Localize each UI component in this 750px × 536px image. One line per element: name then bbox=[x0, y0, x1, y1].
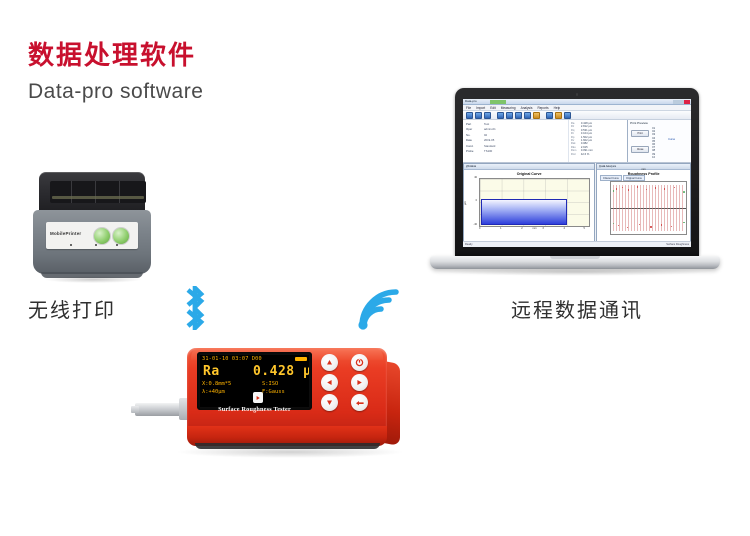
x-axis-ticks: 0 1 2 3 4 5 mm bbox=[479, 227, 590, 235]
paste-icon[interactable] bbox=[524, 112, 531, 119]
x-axis-label: mm bbox=[642, 168, 646, 242]
printer-led-error bbox=[116, 244, 118, 246]
printer-led-power bbox=[95, 244, 97, 246]
x-tick: 1 bbox=[500, 227, 501, 230]
lcd-datetime: 31-01-10 03:07 D00 bbox=[202, 356, 262, 362]
laptop-trackpad-notch bbox=[550, 256, 600, 259]
lcd-measure-value: 0.428 bbox=[253, 364, 295, 379]
info-key: Oper bbox=[466, 127, 480, 131]
tester-front-face: 31-01-10 03:07 D00 Ra 0.428 µm X:0.8mm*5… bbox=[197, 352, 377, 410]
print-icon[interactable] bbox=[497, 112, 504, 119]
remote-data-label: 远程数据通讯 bbox=[511, 294, 643, 323]
printer-power-button[interactable] bbox=[112, 227, 130, 245]
y-axis-ticks: 40 0 -40 bbox=[466, 176, 478, 227]
x-tick: 0 bbox=[479, 227, 480, 230]
menu-item-measuring[interactable]: Measuring bbox=[501, 105, 516, 111]
window-controls[interactable] bbox=[673, 100, 690, 104]
tester-shadow bbox=[175, 446, 405, 458]
y-tick: 0 bbox=[476, 199, 477, 202]
info-value: Standard bbox=[484, 144, 495, 148]
info-key: Part bbox=[466, 122, 480, 126]
info-row: PartTest bbox=[466, 122, 568, 126]
help-icon[interactable] bbox=[564, 112, 571, 119]
enter-key[interactable] bbox=[351, 394, 368, 411]
lcd-measurement: Ra 0.428 µm bbox=[203, 364, 309, 379]
x-tick: 4 bbox=[564, 227, 565, 230]
software-toolbar[interactable] bbox=[463, 111, 691, 120]
original-curve-window: Window _ □ × Original Curve µm 40 0 -40 bbox=[463, 163, 595, 245]
lcd-range: λ:+40µm bbox=[202, 389, 225, 395]
poster-canvas: 数据处理软件 Data-pro software MobilePrinter 无… bbox=[0, 0, 750, 536]
software-title-text: Data-pro bbox=[465, 99, 477, 104]
info-row: Cond.Standard bbox=[466, 144, 568, 148]
print-row-list[interactable]: 01 02 03 04 05 06 07 08 09 10 bbox=[652, 127, 655, 159]
info-fields-panel: PartTest Operadmin-01 No.02 Date2019-05 … bbox=[463, 120, 568, 162]
menu-item-help[interactable]: Help bbox=[554, 105, 561, 111]
printer-led-status bbox=[70, 244, 72, 246]
wireless-print-label: 无线打印 bbox=[28, 294, 116, 323]
copy-icon[interactable] bbox=[515, 112, 522, 119]
print-preview-panel: Print Preview Print Close Curve 01 02 03… bbox=[627, 120, 691, 162]
undo-icon[interactable] bbox=[533, 112, 540, 119]
info-value: admin-01 bbox=[484, 127, 496, 131]
list-item: Rmr42.6 % bbox=[571, 153, 627, 156]
lcd-standard: S:ISO bbox=[262, 381, 278, 387]
bluetooth-icon bbox=[178, 286, 212, 330]
toolbar-separator-2 bbox=[542, 113, 544, 118]
cut-icon[interactable] bbox=[506, 112, 513, 119]
software-upper-area: PartTest Operadmin-01 No.02 Date2019-05 … bbox=[463, 120, 691, 163]
x-tick: 2 bbox=[521, 227, 522, 230]
menu-item-edit[interactable]: Edit bbox=[490, 105, 496, 111]
software-lower-area: Window _ □ × Original Curve µm 40 0 -40 bbox=[463, 163, 691, 245]
software-status-bar: Ready Surface Roughness bbox=[463, 241, 691, 247]
close-button[interactable]: Close bbox=[631, 146, 649, 153]
power-key[interactable] bbox=[351, 354, 368, 371]
info-value: Test bbox=[484, 122, 489, 126]
info-value: 02 bbox=[484, 133, 487, 137]
mobile-printer-image: MobilePrinter bbox=[33, 172, 151, 287]
zoom-icon[interactable] bbox=[546, 112, 553, 119]
chart-canvas bbox=[479, 178, 590, 227]
y-tick: 40 bbox=[474, 176, 477, 179]
printer-brand-text: MobilePrinter bbox=[50, 231, 81, 236]
battery-icon bbox=[295, 357, 307, 361]
roughness-tester-image: 31-01-10 03:07 D00 Ra 0.428 µm X:0.8mm*5… bbox=[135, 340, 425, 465]
laptop-screen: Data-pro File Import Edit Measuring Anal… bbox=[463, 99, 691, 247]
curve-series bbox=[481, 199, 567, 225]
window-controls[interactable]: _ □ × bbox=[466, 165, 593, 169]
tester-keypad[interactable] bbox=[321, 354, 377, 410]
printer-lid bbox=[39, 172, 145, 214]
laptop-lid: Data-pro File Import Edit Measuring Anal… bbox=[455, 88, 699, 256]
menu-item-import[interactable]: Import bbox=[476, 105, 485, 111]
info-key: No. bbox=[466, 133, 480, 137]
lcd-measure-label: Ra bbox=[203, 364, 220, 379]
page-title: 数据处理软件 Data-pro software bbox=[28, 40, 203, 107]
print-button[interactable]: Print bbox=[631, 130, 649, 137]
down-key[interactable] bbox=[321, 394, 338, 411]
printer-feed-button[interactable] bbox=[93, 227, 111, 245]
page-title-cn: 数据处理软件 bbox=[28, 40, 203, 70]
lcd-filter: F:Gauss bbox=[262, 389, 285, 395]
info-key: Date bbox=[466, 138, 480, 142]
info-value: 2019-05 bbox=[484, 138, 494, 142]
lcd-measure-unit: µm bbox=[303, 364, 309, 379]
curve-checkbox[interactable]: Curve bbox=[668, 138, 675, 141]
page-title-en: Data-pro software bbox=[28, 77, 203, 107]
left-key[interactable] bbox=[321, 374, 338, 391]
x-tick: 5 bbox=[584, 227, 585, 230]
play-key[interactable] bbox=[253, 392, 263, 403]
x-axis-label: mm bbox=[533, 227, 537, 230]
y-tick: -40 bbox=[473, 223, 477, 226]
laptop-shadow bbox=[436, 268, 714, 276]
info-key: Probe bbox=[466, 149, 480, 153]
status-text-left: Ready bbox=[465, 242, 473, 247]
printer-paper-slot bbox=[50, 181, 146, 203]
right-key[interactable] bbox=[351, 374, 368, 391]
menu-item-file[interactable]: File bbox=[466, 105, 471, 111]
status-text-right: Surface Roughness bbox=[666, 242, 689, 247]
save-icon[interactable] bbox=[484, 112, 491, 119]
menu-item-reports[interactable]: Reports bbox=[537, 105, 548, 111]
chart-icon[interactable] bbox=[555, 112, 562, 119]
print-panel-title: Print Preview bbox=[630, 121, 648, 125]
list-item[interactable]: 10 bbox=[652, 156, 655, 159]
toolbar-separator bbox=[493, 113, 495, 118]
info-row: Date2019-05 bbox=[466, 138, 568, 142]
info-key: Cond. bbox=[466, 144, 480, 148]
x-tick: 3 bbox=[542, 227, 543, 230]
info-row: No.02 bbox=[466, 133, 568, 137]
printer-label: MobilePrinter bbox=[46, 222, 138, 249]
printer-body: MobilePrinter bbox=[33, 210, 151, 274]
printer-shadow bbox=[45, 276, 141, 283]
info-row: ProbeTS100 bbox=[466, 149, 568, 153]
info-value: TS100 bbox=[484, 149, 492, 153]
laptop-image: Data-pro File Import Edit Measuring Anal… bbox=[430, 88, 720, 284]
menu-item-analysis[interactable]: Analysis bbox=[521, 105, 533, 111]
parameter-list-panel[interactable]: Ra0.428 µm Rz2.812 µm Rq0.531 µm Rt3.104… bbox=[568, 120, 627, 162]
profile-chart-canvas bbox=[610, 181, 687, 235]
title-bar-highlight bbox=[490, 100, 506, 104]
wifi-signal-icon bbox=[358, 288, 414, 330]
roughness-profile-window: Data Analysis _ □ × Roughness Profile Fi… bbox=[596, 163, 691, 245]
open-icon[interactable] bbox=[475, 112, 482, 119]
info-row: Operadmin-01 bbox=[466, 127, 568, 131]
up-key[interactable] bbox=[321, 354, 338, 371]
lcd-cutoff: X:0.8mm*5 bbox=[202, 381, 231, 387]
window-header: Window _ □ × bbox=[464, 164, 594, 170]
chart-plot-area: µm 40 0 -40 0 1 bbox=[464, 176, 594, 237]
new-icon[interactable] bbox=[466, 112, 473, 119]
webcam-icon bbox=[576, 93, 579, 96]
software-title-bar: Data-pro bbox=[463, 99, 691, 105]
